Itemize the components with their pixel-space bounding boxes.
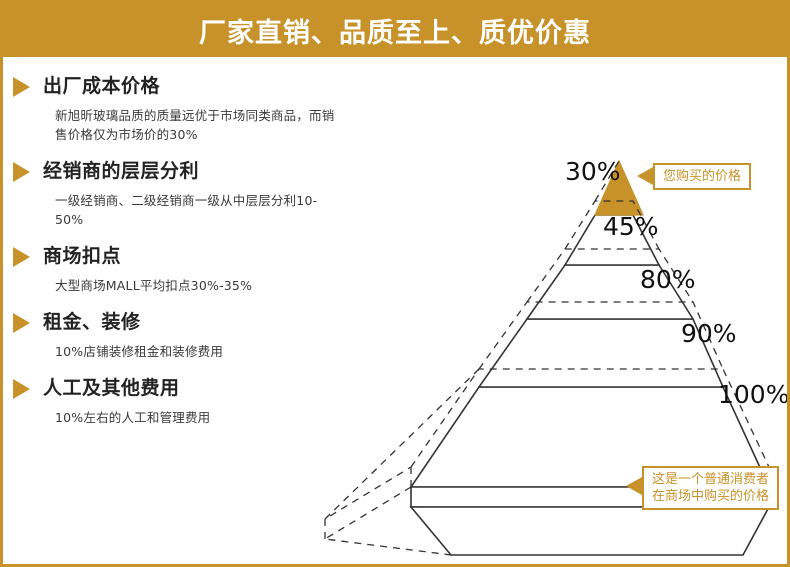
pyramid-label-45: 45% bbox=[603, 212, 659, 241]
arrow-bullet-icon bbox=[13, 379, 30, 399]
list-item-desc: 一级经销商、二级经销商一级从中层层分利10-50% bbox=[55, 191, 341, 229]
arrow-bullet-icon bbox=[13, 162, 30, 182]
arrow-bullet-icon bbox=[13, 247, 30, 267]
pyramid-label-80: 80% bbox=[640, 265, 696, 294]
list-item-title: 租金、装修 bbox=[43, 309, 341, 335]
list-item: 经销商的层层分利 一级经销商、二级经销商一级从中层层分利10-50% bbox=[11, 158, 341, 229]
header-banner: 厂家直销、品质至上、质优价惠 bbox=[3, 3, 787, 57]
pyramid-label-30: 30% bbox=[565, 157, 621, 186]
callout-your-price: 您购买的价格 bbox=[653, 163, 751, 190]
list-item-desc: 新旭昕玻璃品质的质量远优于市场同类商品，而销售价格仅为市场价的30% bbox=[55, 106, 341, 144]
list-item: 商场扣点 大型商场MALL平均扣点30%-35% bbox=[11, 243, 341, 295]
callout-bottom-arrow-icon bbox=[626, 477, 642, 495]
pyramid-label-90: 90% bbox=[681, 319, 737, 348]
list-item: 人工及其他费用 10%左右的人工和管理费用 bbox=[11, 375, 341, 427]
cost-breakdown-list: 出厂成本价格 新旭昕玻璃品质的质量远优于市场同类商品，而销售价格仅为市场价的30… bbox=[11, 73, 341, 441]
pyramid-label-100: 100% bbox=[718, 380, 789, 409]
pyramid-level-100-base bbox=[411, 507, 769, 555]
callout-top-arrow-icon bbox=[637, 167, 653, 185]
list-item-title: 出厂成本价格 bbox=[43, 73, 341, 99]
list-item-desc: 10%店铺装修租金和装修费用 bbox=[55, 342, 341, 361]
infographic-page: 厂家直销、品质至上、质优价惠 出厂成本价格 新旭昕玻璃品质的质量远优于市场同类商… bbox=[0, 0, 790, 567]
page-title: 厂家直销、品质至上、质优价惠 bbox=[199, 11, 591, 50]
callout-consumer-price: 这是一个普通消费者 在商场中购买的价格 bbox=[642, 466, 779, 510]
list-item-title: 经销商的层层分利 bbox=[43, 158, 341, 184]
list-item-title: 商场扣点 bbox=[43, 243, 341, 269]
list-item: 出厂成本价格 新旭昕玻璃品质的质量远优于市场同类商品，而销售价格仅为市场价的30… bbox=[11, 73, 341, 144]
list-item-desc: 大型商场MALL平均扣点30%-35% bbox=[55, 276, 341, 295]
arrow-bullet-icon bbox=[13, 77, 30, 97]
depth-line-base-left-upper bbox=[325, 467, 411, 539]
callout-consumer-price-line2: 在商场中购买的价格 bbox=[652, 488, 769, 505]
list-item-desc: 10%左右的人工和管理费用 bbox=[55, 408, 341, 427]
list-item-title: 人工及其他费用 bbox=[43, 375, 341, 401]
arrow-bullet-icon bbox=[13, 313, 30, 333]
callout-consumer-price-line1: 这是一个普通消费者 bbox=[652, 471, 769, 488]
list-item: 租金、装修 10%店铺装修租金和装修费用 bbox=[11, 309, 341, 361]
